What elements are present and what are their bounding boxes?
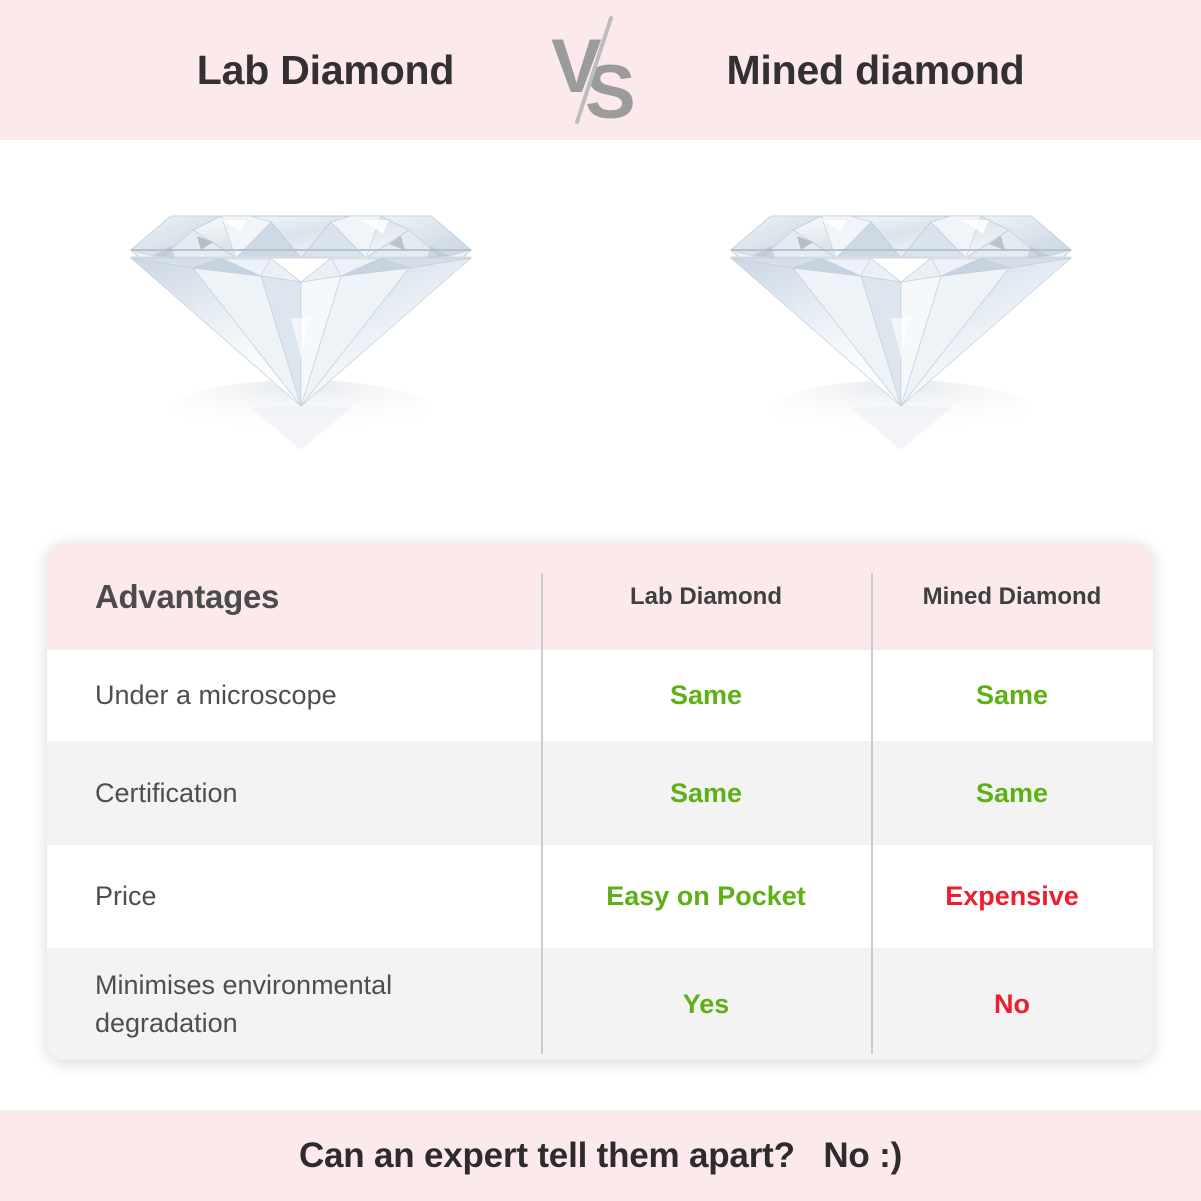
vs-icon: V S — [541, 15, 661, 125]
footer-answer: No :) — [823, 1136, 902, 1176]
row-label: Price — [47, 877, 541, 915]
footer-spacer — [795, 1136, 824, 1176]
row-value-lab: Easy on Pocket — [541, 881, 871, 912]
table-row: Minimises environmental degradation Yes … — [47, 948, 1153, 1060]
column-header-mined-diamond: Mined Diamond — [871, 583, 1153, 611]
column-header-lab-diamond: Lab Diamond — [541, 583, 871, 611]
svg-text:S: S — [585, 50, 636, 126]
table-row: Price Easy on Pocket Expensive — [47, 845, 1153, 948]
row-value-lab: Same — [541, 680, 871, 711]
column-header-feature: Advantages — [47, 578, 541, 616]
column-divider-1 — [541, 573, 543, 1054]
header-right-title: Mined diamond — [661, 47, 1091, 94]
mined-diamond-image — [601, 140, 1201, 530]
table-header-row: Advantages Lab Diamond Mined Diamond — [47, 543, 1153, 650]
row-value-mined: Expensive — [871, 881, 1153, 912]
table-row: Certification Same Same — [47, 741, 1153, 845]
row-value-lab: Yes — [541, 989, 871, 1020]
footer-band: Can an expert tell them apart? No :) — [0, 1110, 1201, 1201]
column-divider-2 — [871, 573, 873, 1054]
lab-diamond-image — [1, 140, 601, 530]
diamond-images-row — [0, 140, 1201, 530]
row-label: Minimises environmental degradation — [47, 966, 541, 1043]
row-value-mined: Same — [871, 778, 1153, 809]
header-band: Lab Diamond V S Mined diamond — [0, 0, 1201, 140]
row-value-lab: Same — [541, 778, 871, 809]
header-left-title: Lab Diamond — [111, 47, 541, 94]
row-value-mined: Same — [871, 680, 1153, 711]
row-label: Under a microscope — [47, 676, 541, 714]
table-row: Under a microscope Same Same — [47, 650, 1153, 741]
footer-question: Can an expert tell them apart? — [299, 1136, 795, 1176]
comparison-infographic: Lab Diamond V S Mined diamond — [0, 0, 1201, 1201]
row-label: Certification — [47, 774, 541, 812]
comparison-table-card: Advantages Lab Diamond Mined Diamond Und… — [47, 543, 1153, 1060]
row-value-mined: No — [871, 989, 1153, 1020]
